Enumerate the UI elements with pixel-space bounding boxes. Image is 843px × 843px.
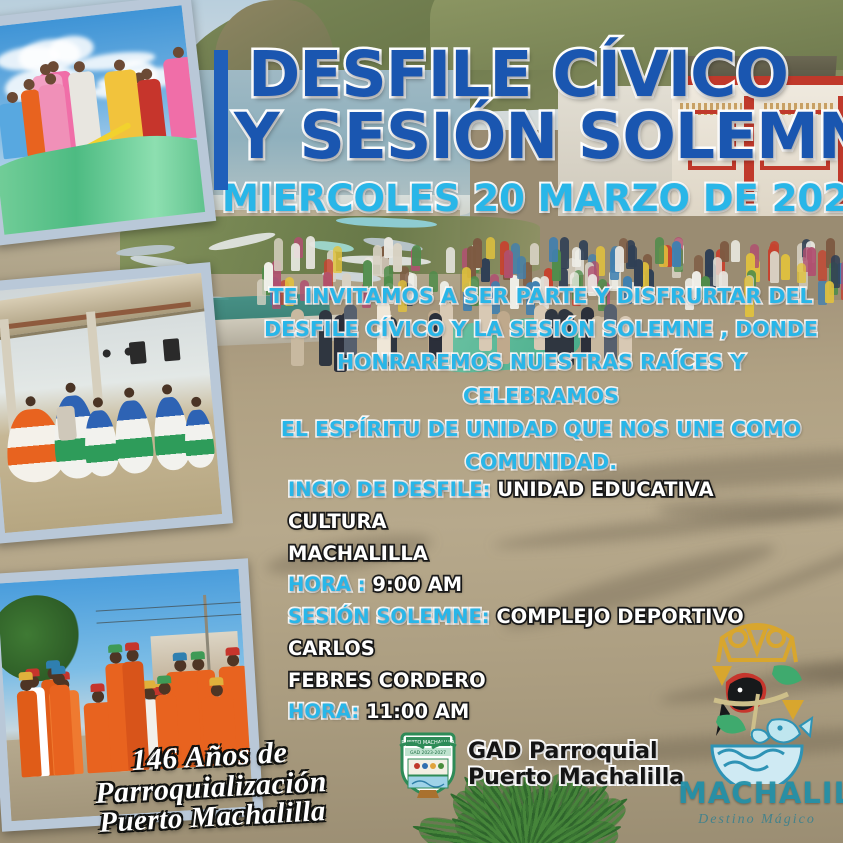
person xyxy=(393,243,402,273)
event-date: MIERCOLES 20 MARZO DE 2024 xyxy=(222,177,843,220)
person xyxy=(655,237,664,264)
detail-value-5: 11:00 AM xyxy=(359,700,469,723)
photo-2-folkloric-dancers xyxy=(0,273,222,533)
person xyxy=(572,247,581,268)
detail-label-3: SESIÓN SOLEMNE: xyxy=(288,605,490,628)
photo-3-parade xyxy=(0,569,253,821)
detail-label-5: HORA: xyxy=(288,700,359,723)
detail-row-2: HORA : 9:00 AM xyxy=(288,569,818,601)
photo2-speaker-2 xyxy=(163,338,181,361)
detail-row-1: MACHALILLA xyxy=(288,538,818,570)
gad-logo-block: PUERTO MACHALILLA GAD 2023-2027 GAD Parr… xyxy=(398,728,684,802)
person xyxy=(770,251,779,283)
machalilla-logo-name: MACHALILLA xyxy=(678,776,836,810)
detail-value-2: 9:00 AM xyxy=(366,573,463,596)
title-block: DESFILE CÍVICO Y SESIÓN SOLEMNE MIERCOLE… xyxy=(214,44,843,220)
machalilla-logo-tagline: Destino Mágico xyxy=(678,812,836,828)
marcher-9 xyxy=(155,694,180,769)
machalilla-emblem-icon xyxy=(678,604,836,784)
detail-row-0: INCIO DE DESFILE: UNIDAD EDUCATIVA CULTU… xyxy=(288,474,818,538)
person xyxy=(384,237,393,258)
person xyxy=(473,238,482,267)
person xyxy=(615,246,624,272)
invitation-paragraph: TE INVITAMOS A SER PARTE Y DISFRURTAR DE… xyxy=(258,280,824,479)
person xyxy=(549,237,558,262)
person xyxy=(333,246,342,274)
photo-1-kids-float xyxy=(0,5,205,235)
person xyxy=(672,241,681,267)
machalilla-logo-block: MACHALILLA Destino Mágico xyxy=(678,604,836,832)
gad-line-1: GAD Parroquial xyxy=(468,739,684,765)
invitation-line-1: TE INVITAMOS A SER PARTE Y DISFRURTAR DE… xyxy=(258,280,824,313)
person xyxy=(504,250,513,278)
detail-value-4: FEBRES CORDERO xyxy=(288,669,486,692)
gad-crest-icon: PUERTO MACHALILLA GAD 2023-2027 xyxy=(398,728,458,802)
invitation-line-3: HONRAREMOS NUESTRAS RAÍCES Y CELEBRAMOS xyxy=(258,346,824,412)
person xyxy=(560,237,569,268)
detail-label-0: INCIO DE DESFILE: xyxy=(288,478,490,501)
person xyxy=(446,247,455,273)
person xyxy=(731,240,740,262)
photo-frame-3 xyxy=(0,558,264,832)
gad-logo-text: GAD Parroquial Puerto Machalilla xyxy=(468,739,684,791)
detail-label-2: HORA : xyxy=(288,573,366,596)
person xyxy=(517,256,526,279)
poster-root: 146 Años de Parroquialización Puerto Mac… xyxy=(0,0,843,843)
photo-frame-1 xyxy=(0,0,216,246)
page-title-line-1: DESFILE CÍVICO xyxy=(248,44,843,106)
gad-line-2: Puerto Machalilla xyxy=(468,765,684,791)
svg-text:GAD 2023-2027: GAD 2023-2027 xyxy=(410,750,446,756)
person xyxy=(486,237,495,259)
person xyxy=(291,243,300,271)
person xyxy=(306,236,315,269)
title-accent-bar xyxy=(214,50,228,190)
photo-frame-2 xyxy=(0,262,233,544)
person xyxy=(274,238,283,270)
detail-value-1: MACHALILLA xyxy=(288,542,428,565)
person xyxy=(412,245,421,266)
dancer-5 xyxy=(182,408,215,468)
invitation-line-4: EL ESPÍRITU DE UNIDAD QUE NOS UNE COMO xyxy=(258,413,824,446)
marcher-5 xyxy=(202,696,237,767)
invitation-line-2: DESFILE CÍVICO Y LA SESIÓN SOLEMNE , DON… xyxy=(258,313,824,346)
person xyxy=(481,258,490,282)
dancer-3 xyxy=(112,399,155,475)
person xyxy=(825,281,834,302)
person xyxy=(781,254,790,280)
page-title-line-2: Y SESIÓN SOLEMNE xyxy=(234,106,843,168)
person xyxy=(530,243,539,265)
